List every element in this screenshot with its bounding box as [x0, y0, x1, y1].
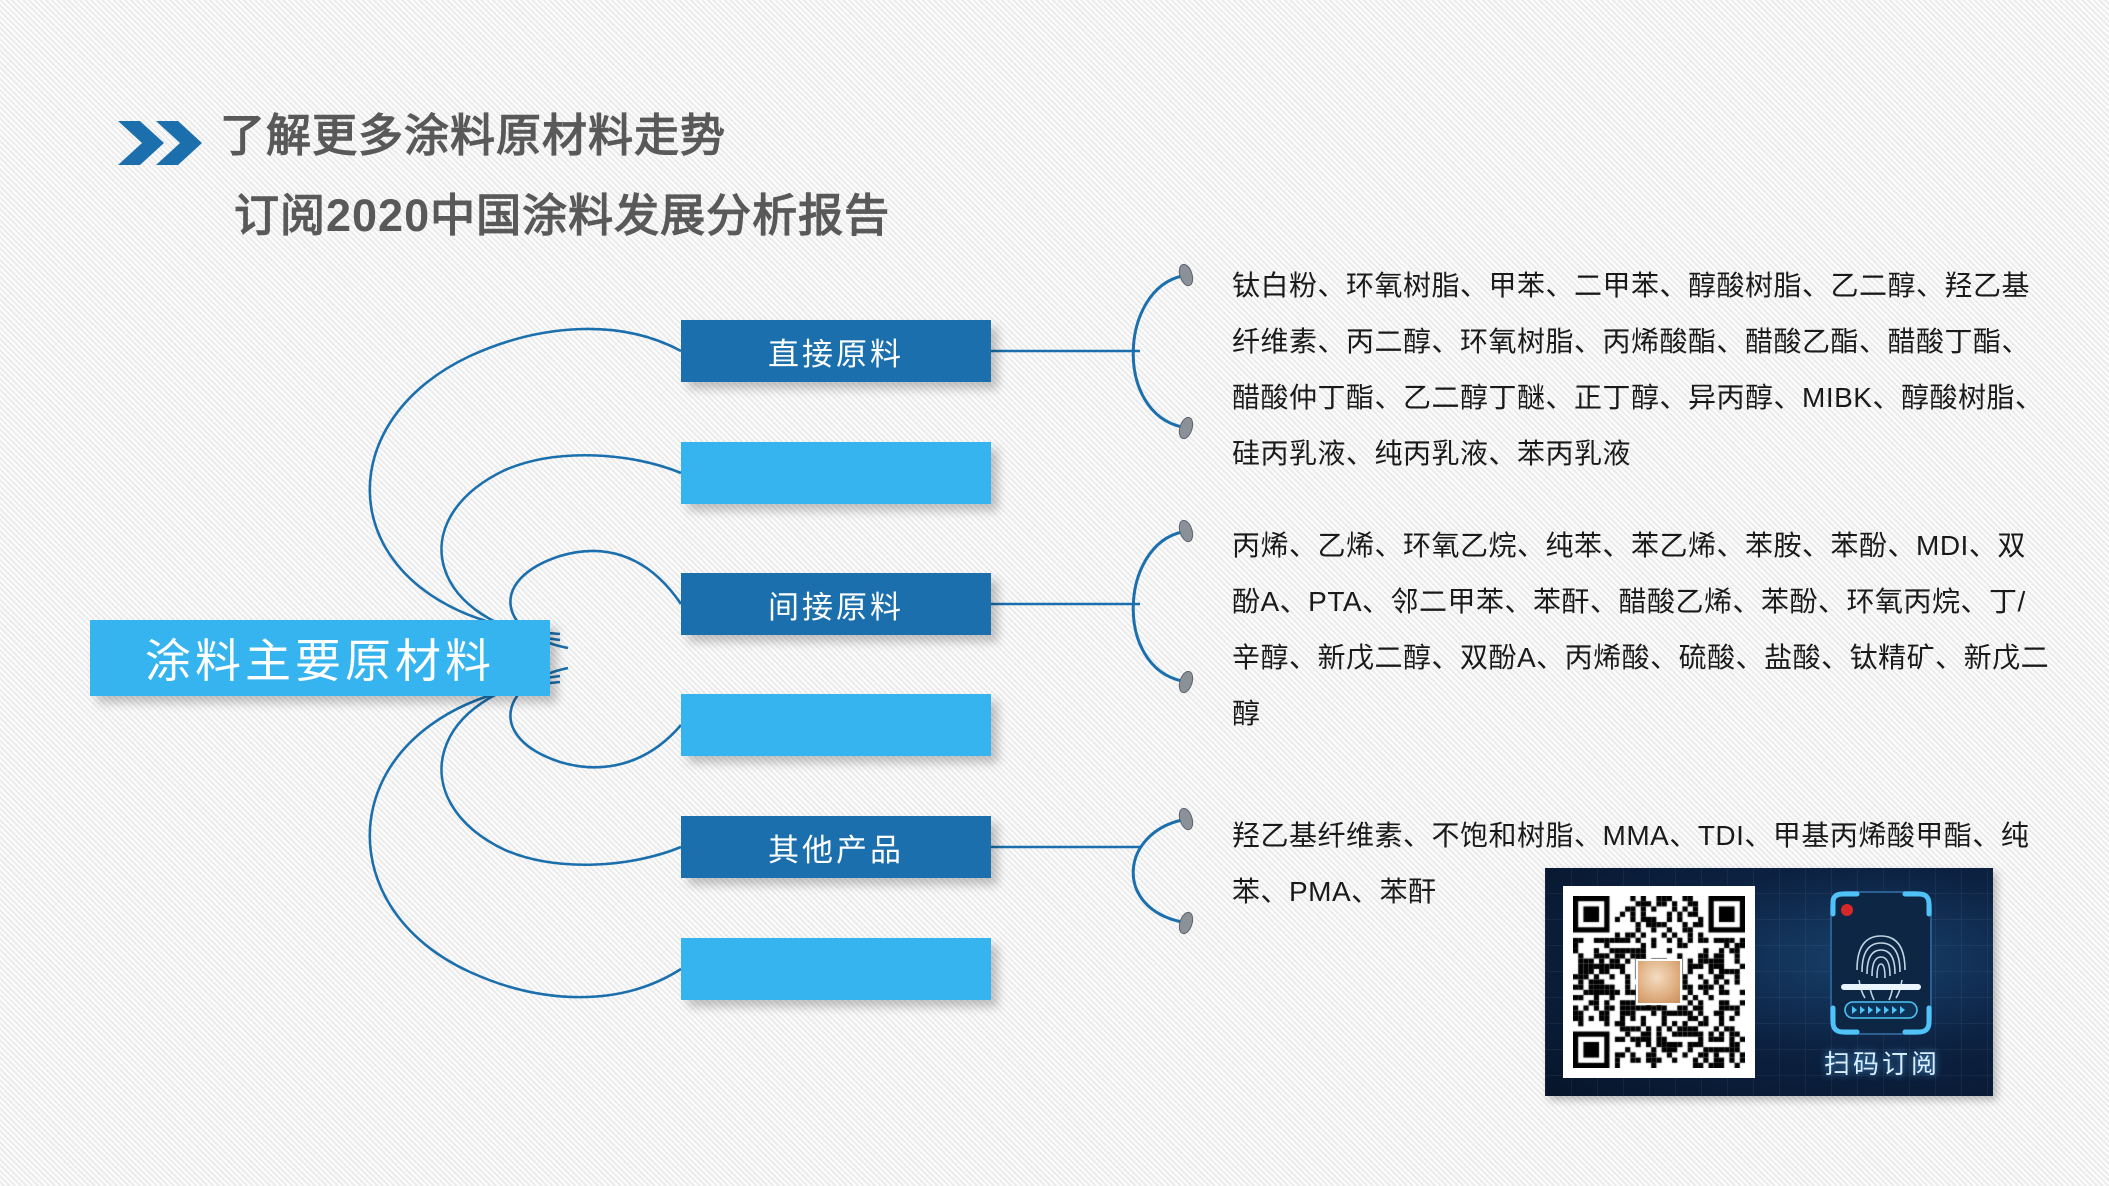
category-label-direct: 直接原料: [768, 329, 904, 374]
cat-avatar-icon: [1636, 959, 1682, 1005]
header-line-1: 了解更多涂料原材料走势: [220, 96, 890, 176]
detail-text-indirect: 丙烯、乙烯、环氧乙烷、纯苯、苯乙烯、苯胺、苯酚、MDI、双酚A、PTA、邻二甲苯…: [1232, 518, 2052, 742]
category-box-other[interactable]: 其他产品: [681, 816, 991, 878]
fingerprint-scanner-icon: [1823, 888, 1939, 1038]
qr-subscribe-card[interactable]: 扫码订阅: [1545, 868, 1993, 1096]
category-label-other: 其他产品: [768, 825, 904, 870]
category-box-indirect[interactable]: 间接原料: [681, 573, 991, 635]
double-chevron-right-icon: [118, 118, 204, 168]
slide-canvas: 了解更多涂料原材料走势 订阅2020中国涂料发展分析报告: [0, 0, 2109, 1186]
root-node-paint-raw-materials[interactable]: 涂料主要原材料: [90, 620, 550, 696]
header-text-group: 了解更多涂料原材料走势 订阅2020中国涂料发展分析报告: [220, 96, 890, 256]
detail-text-direct: 钛白粉、环氧树脂、甲苯、二甲苯、醇酸树脂、乙二醇、羟乙基纤维素、丙二醇、环氧树脂…: [1232, 258, 2052, 482]
qr-caption: 扫码订阅: [1813, 1044, 1951, 1081]
category-label-indirect: 间接原料: [768, 582, 904, 627]
root-node-label: 涂料主要原材料: [145, 625, 495, 691]
header-line-2: 订阅2020中国涂料发展分析报告: [220, 176, 890, 256]
qr-code-icon[interactable]: [1563, 886, 1755, 1078]
category-box-direct[interactable]: 直接原料: [681, 320, 991, 382]
filler-box-3[interactable]: [681, 938, 991, 1000]
filler-box-2[interactable]: [681, 694, 991, 756]
filler-box-1[interactable]: [681, 442, 991, 504]
